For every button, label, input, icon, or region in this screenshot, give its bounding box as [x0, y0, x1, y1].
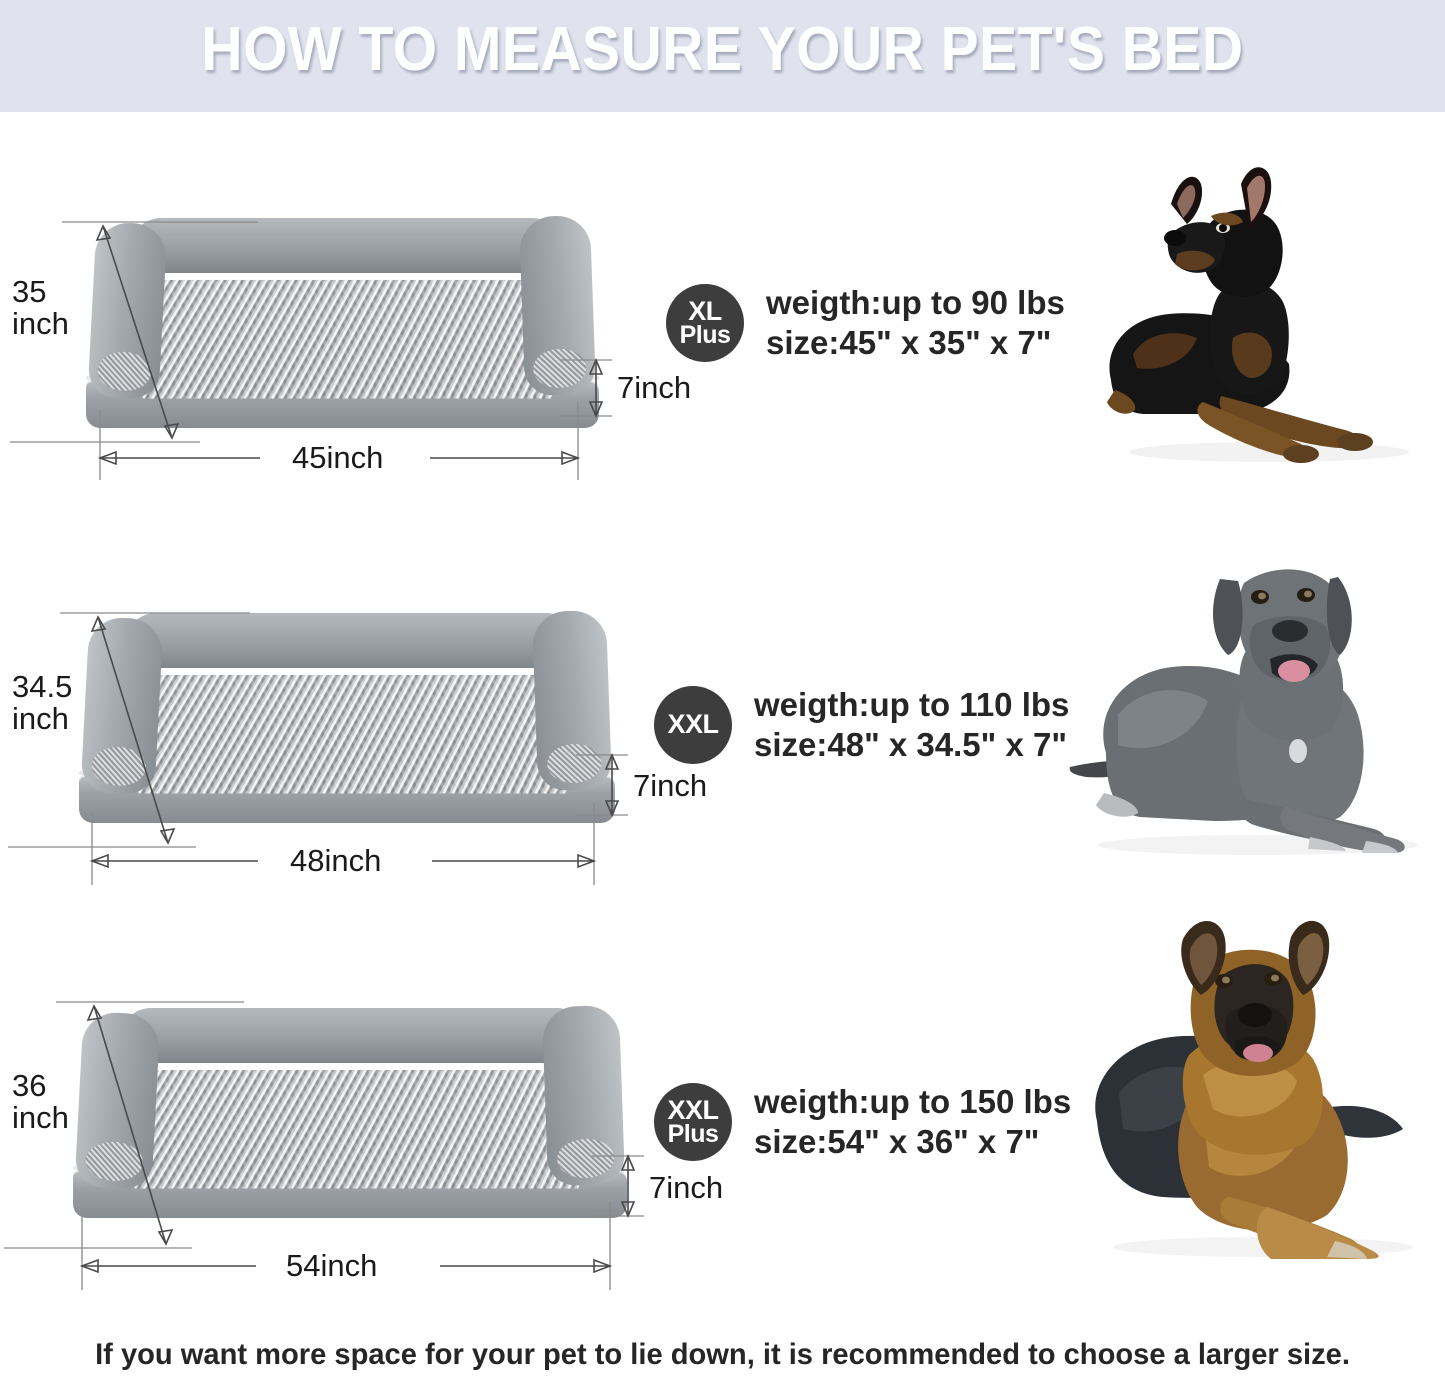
spec-text-block: weigth:up to 110 lbs size:48" x 34.5" x … [754, 685, 1069, 766]
width-dimension-label: 45inch [292, 442, 383, 474]
size-text: size:45" x 35" x 7" [766, 323, 1065, 363]
spec-text-block: weigth:up to 90 lbs size:45" x 35" x 7" [766, 283, 1065, 364]
size-spec-xxl: XXL weigth:up to 110 lbs size:48" x 34.5… [654, 685, 1069, 766]
weight-text: weigth:up to 90 lbs [766, 283, 1065, 323]
page-title: HOW TO MEASURE YOUR PET'S BED [58, 14, 1387, 85]
width-dimension-label: 54inch [286, 1250, 377, 1282]
depth-dimension-label: 35 inch [12, 276, 69, 339]
dog-photo-great-dane [1048, 555, 1445, 860]
badge-line-2: Plus [668, 1123, 719, 1147]
weight-text: weigth:up to 110 lbs [754, 685, 1069, 725]
height-dimension-label: 7inch [633, 770, 707, 802]
size-spec-xl-plus: XL Plus weigth:up to 90 lbs size:45" x 3… [666, 283, 1065, 364]
height-dimension-label: 7inch [649, 1172, 723, 1204]
size-badge-xxl: XXL [654, 686, 732, 764]
depth-dimension-label: 36 inch [12, 1070, 69, 1133]
badge-line-1: XXL [667, 712, 718, 738]
size-text: size:48" x 34.5" x 7" [754, 725, 1069, 765]
dog-photo-doberman [1093, 168, 1445, 468]
badge-line-2: Plus [680, 324, 731, 348]
size-spec-xxl-plus: XXL Plus weigth:up to 150 lbs size:54" x… [654, 1082, 1071, 1163]
size-text: size:54" x 36" x 7" [754, 1122, 1071, 1162]
depth-dimension-label: 34.5 inch [12, 671, 72, 734]
dog-photo-german-shepherd [1063, 925, 1445, 1260]
weight-text: weigth:up to 150 lbs [754, 1082, 1071, 1122]
height-dimension-label: 7inch [617, 372, 691, 404]
spec-text-block: weigth:up to 150 lbs size:54" x 36" x 7" [754, 1082, 1071, 1163]
footer-note: If you want more space for your pet to l… [22, 1338, 1424, 1372]
size-badge-xl-plus: XL Plus [666, 284, 744, 362]
infographic-page: HOW TO MEASURE YOUR PET'S BED [0, 0, 1445, 1386]
size-badge-xxl-plus: XXL Plus [654, 1083, 732, 1161]
width-dimension-label: 48inch [290, 845, 381, 877]
